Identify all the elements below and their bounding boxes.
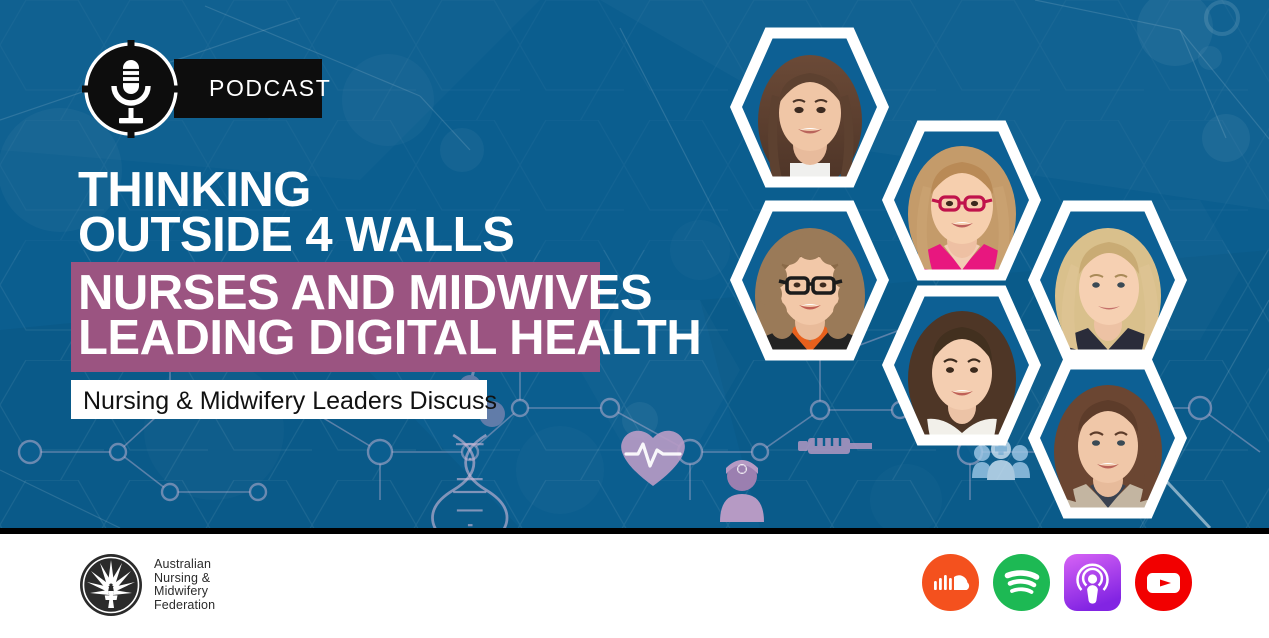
soundcloud-icon[interactable] — [922, 554, 979, 611]
podcast-badge-bar: PODCAST — [174, 59, 322, 118]
portrait-hexagon-1 — [728, 25, 891, 190]
spotify-icon[interactable] — [993, 554, 1050, 611]
podcast-badge-label: PODCAST — [209, 76, 331, 100]
headline-line-2: OUTSIDE 4 WALLS — [78, 211, 514, 260]
anmf-line-4: Federation — [154, 599, 215, 613]
portrait-hexagon-4 — [1026, 198, 1189, 363]
podcast-promo-banner: PODCAST — [0, 0, 1269, 638]
anmf-line-2: Nursing & — [154, 572, 215, 586]
social-links — [920, 554, 1210, 614]
anmf-starburst-icon — [78, 552, 144, 618]
headline-highlight-line-2: LEADING DIGITAL HEALTH — [78, 314, 701, 363]
hero-section: PODCAST — [0, 0, 1269, 528]
portrait-hexagon-2 — [880, 118, 1043, 283]
podcast-badge: PODCAST — [78, 36, 322, 142]
anmf-logo: Australian Nursing & Midwifery Federatio… — [78, 552, 298, 620]
anmf-logo-text: Australian Nursing & Midwifery Federatio… — [154, 558, 215, 612]
microphone-icon — [78, 36, 184, 142]
portrait-hexagon-5 — [880, 283, 1043, 448]
portrait-hexagon-3 — [728, 198, 891, 363]
footer-bar: Australian Nursing & Midwifery Federatio… — [0, 534, 1269, 638]
anmf-line-3: Midwifery — [154, 585, 215, 599]
apple-podcasts-icon[interactable] — [1064, 554, 1121, 611]
subtitle-text: Nursing & Midwifery Leaders Discuss — [83, 388, 497, 414]
youtube-icon[interactable] — [1135, 554, 1192, 611]
anmf-line-1: Australian — [154, 558, 215, 572]
portrait-hexagon-6 — [1026, 356, 1189, 521]
